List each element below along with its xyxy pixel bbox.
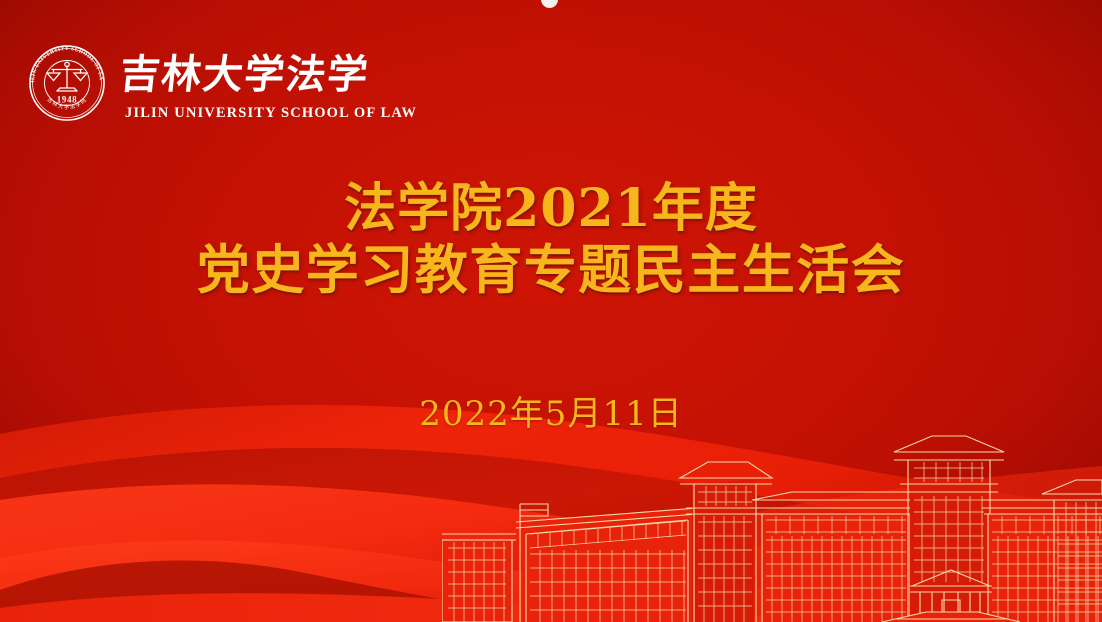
- school-wordmark: 吉林大学法学院 JILIN UNIVERSITY SCHOOL OF LAW: [123, 45, 417, 121]
- event-date: 2022年5月11日: [0, 386, 1102, 435]
- slide-canvas: .bl { fill:none; stroke:#F6D9A8; stroke-…: [0, 0, 1102, 622]
- title-line-1: 法学院2021年度: [0, 178, 1102, 239]
- university-building-line-art: .bl { fill:none; stroke:#F6D9A8; stroke-…: [442, 422, 1102, 622]
- wordmark-english-text: JILIN UNIVERSITY SCHOOL OF LAW: [125, 106, 417, 121]
- jilin-university-school-of-law-emblem: JILIN UNIVERSITY SCHOOL OF LAW 吉林大学法学院: [22, 38, 112, 128]
- wordmark-chinese-calligraphy: 吉林大学法学院: [123, 45, 417, 101]
- title-line-2: 党史学习教育专题民主生活会: [0, 239, 1102, 302]
- wordmark-chinese-text: 吉林大学法学院: [123, 52, 369, 98]
- emblem-year: 1948: [57, 95, 77, 105]
- event-title: 法学院2021年度 党史学习教育专题民主生活会: [0, 178, 1102, 302]
- school-logo-lockup: JILIN UNIVERSITY SCHOOL OF LAW 吉林大学法学院: [22, 38, 417, 128]
